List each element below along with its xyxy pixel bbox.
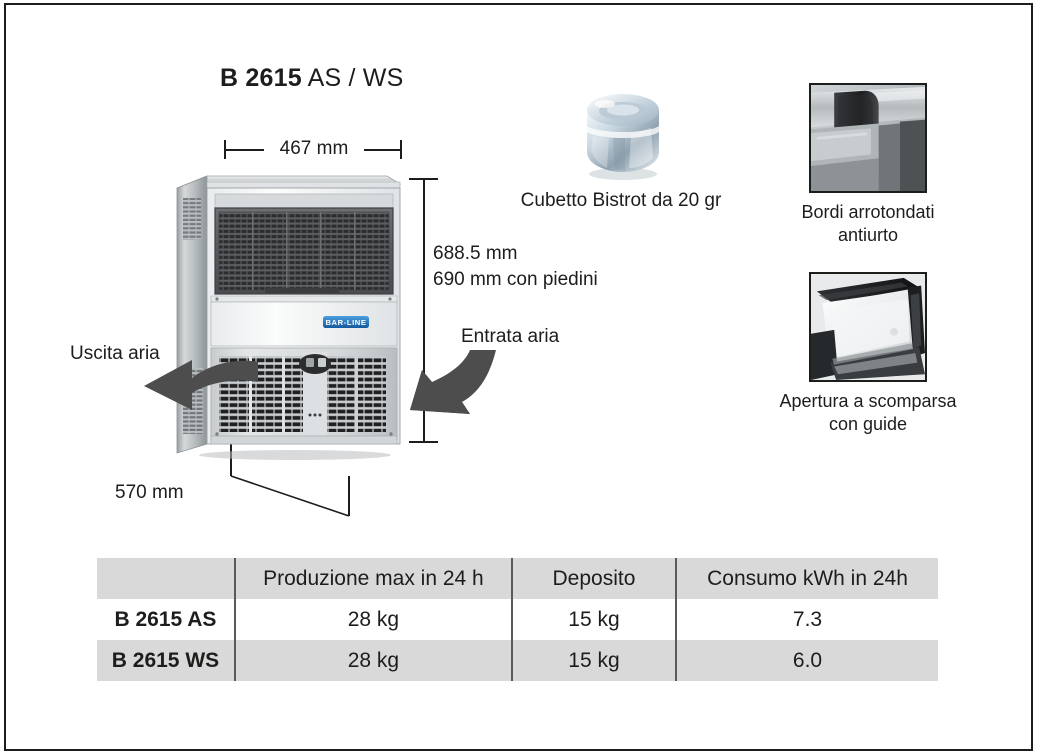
feature-rounded-edges-caption: Bordi arrotondati antiurto bbox=[753, 201, 983, 247]
table-cell-consumo: 6.0 bbox=[676, 640, 938, 681]
ice-cube-caption: Cubetto Bistrot da 20 gr bbox=[516, 190, 726, 212]
table-cell-consumo: 7.3 bbox=[676, 599, 938, 640]
feature-retractable-door: Apertura a scomparsa con guide bbox=[753, 272, 983, 436]
width-dimension: 467 mm bbox=[224, 134, 402, 164]
ice-cube-figure: Cubetto Bistrot da 20 gr bbox=[516, 80, 726, 212]
depth-dimension-label: 570 mm bbox=[115, 482, 184, 504]
table-cell-deposito: 15 kg bbox=[512, 640, 676, 681]
feature-retractable-door-photo bbox=[809, 272, 927, 382]
brand-badge-text: BAR-LINE bbox=[325, 318, 366, 327]
feature-retractable-door-caption-line1: Apertura a scomparsa bbox=[753, 390, 983, 413]
page-title: B 2615 AS / WS bbox=[220, 64, 403, 93]
air-outlet-arrow-icon bbox=[140, 352, 260, 419]
table-cell-produzione: 28 kg bbox=[235, 599, 512, 640]
table-header-produzione: Produzione max in 24 h bbox=[235, 558, 512, 599]
feature-rounded-edges-caption-line1: Bordi arrotondati bbox=[753, 201, 983, 224]
feature-rounded-edges: Bordi arrotondati antiurto bbox=[753, 83, 983, 247]
table-row: B 2615 AS 28 kg 15 kg 7.3 bbox=[97, 599, 938, 640]
width-dimension-line-right bbox=[362, 149, 402, 151]
table-cell-model: B 2615 WS bbox=[97, 640, 235, 681]
air-inlet-label: Entrata aria bbox=[461, 326, 559, 348]
specifications-table: Produzione max in 24 h Deposito Consumo … bbox=[97, 558, 938, 681]
table-cell-produzione: 28 kg bbox=[235, 640, 512, 681]
height-dimension-label: 688.5 mm 690 mm con piedini bbox=[433, 241, 598, 293]
feature-retractable-door-caption-line2: con guide bbox=[753, 413, 983, 436]
feature-rounded-edges-photo bbox=[809, 83, 927, 193]
model-variant: AS / WS bbox=[308, 64, 404, 92]
table-cell-model: B 2615 AS bbox=[97, 599, 235, 640]
feature-rounded-edges-caption-line2: antiurto bbox=[753, 224, 983, 247]
table-header-deposito: Deposito bbox=[512, 558, 676, 599]
height-dimension-label-line1: 688.5 mm bbox=[433, 241, 598, 267]
table-header-consumo: Consumo kWh in 24h bbox=[676, 558, 938, 599]
table-header-model bbox=[97, 558, 235, 599]
ice-cube-photo bbox=[565, 80, 677, 184]
table-cell-deposito: 15 kg bbox=[512, 599, 676, 640]
feature-retractable-door-caption: Apertura a scomparsa con guide bbox=[753, 390, 983, 436]
product-datasheet-page: B 2615 AS / WS 467 mm 688.5 mm 690 mm co… bbox=[0, 0, 1039, 756]
width-dimension-line-left bbox=[224, 149, 266, 151]
model-name: B 2615 bbox=[220, 64, 302, 92]
height-dimension-tick-bottom bbox=[409, 441, 438, 443]
table-header-row: Produzione max in 24 h Deposito Consumo … bbox=[97, 558, 938, 599]
height-dimension-label-line2: 690 mm con piedini bbox=[433, 267, 598, 293]
table-row: B 2615 WS 28 kg 15 kg 6.0 bbox=[97, 640, 938, 681]
air-inlet-arrow-icon bbox=[370, 348, 500, 428]
depth-dimension-tick-end bbox=[348, 476, 350, 516]
width-dimension-label: 467 mm bbox=[264, 134, 364, 164]
